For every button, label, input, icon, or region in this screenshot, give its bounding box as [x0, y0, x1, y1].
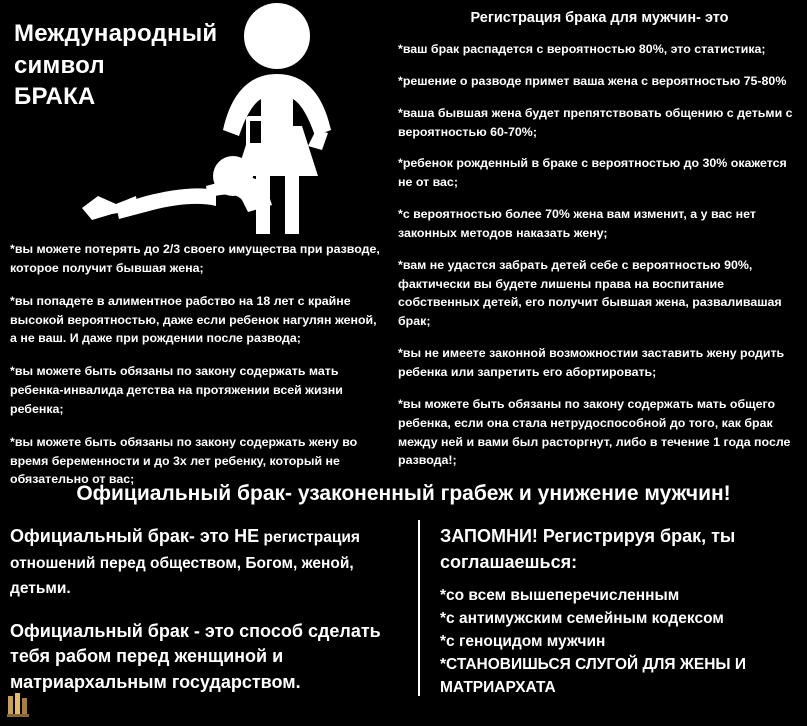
right-item-7: *вы не имеете законной возможностии заст…: [398, 344, 798, 382]
bottom-right-block: ЗАПОМНИ! Регистрируя брак, ты соглашаешь…: [440, 524, 800, 700]
right-item-5: *с вероятностью более 70% жена вам измен…: [398, 205, 798, 243]
bottom-left-paragraph-1: Официальный брак- это НЕ регистрация отн…: [10, 524, 406, 601]
bottom-right-heading: ЗАПОМНИ! Регистрируя брак, ты соглашаешь…: [440, 524, 800, 575]
bottom-right-item-4: *СТАНОВИШЬСЯ СЛУГОЙ ДЛЯ ЖЕНЫ И МАТРИАРХА…: [440, 654, 800, 700]
poster-canvas: Международный символ БРАКА: [0, 0, 807, 726]
bottom-right-item-3: *с геноцидом мужчин: [440, 631, 800, 654]
right-column: Регистрация брака для мужчин- это *ваш б…: [392, 0, 807, 480]
right-consequences-list: *ваш брак распадется с вероятностью 80%,…: [398, 40, 798, 483]
right-item-1: *ваш брак распадется с вероятностью 80%,…: [398, 40, 798, 59]
bottom-right-item-1: *со всем вышеперечисленным: [440, 585, 800, 608]
marriage-pictogram-icon: [20, 0, 386, 236]
left-column: Международный символ БРАКА: [0, 0, 390, 480]
right-item-4: *ребенок рожденный в браке с вероятность…: [398, 154, 798, 192]
left-item-2: *вы попадете в алиментное рабство на 18 …: [10, 292, 382, 349]
bottom-left-block: Официальный брак- это НЕ регистрация отн…: [10, 524, 406, 713]
vertical-divider: [418, 520, 420, 696]
right-item-2: *решение о разводе примет ваша жена с ве…: [398, 72, 798, 91]
banner-statement: Официальный брак- узаконенный грабеж и у…: [0, 482, 807, 506]
left-item-1: *вы можете потерять до 2/3 своего имущес…: [10, 240, 382, 278]
bottom-left-paragraph-2: Официальный брак - это способ сделать те…: [10, 619, 406, 696]
bottom-right-list: *со всем вышеперечисленным *с антимужски…: [440, 585, 800, 700]
right-item-8: *вы можете быть обязаны по закону содерж…: [398, 395, 798, 470]
watermark-icon: [6, 690, 36, 720]
left-consequences-list: *вы можете потерять до 2/3 своего имущес…: [10, 240, 382, 503]
right-item-6: *вам не удастся забрать детей себе с вер…: [398, 256, 798, 331]
bottom-left-strong-1: Официальный брак- это НЕ: [10, 526, 259, 546]
left-item-3: *вы можете быть обязаны по закону содерж…: [10, 362, 382, 419]
right-item-3: *ваша бывшая жена будет препятствовать о…: [398, 104, 798, 142]
left-item-4: *вы можете быть обязаны по закону содерж…: [10, 433, 382, 490]
bottom-right-item-2: *с антимужским семейным кодексом: [440, 608, 800, 631]
right-column-heading: Регистрация брака для мужчин- это: [392, 10, 807, 26]
